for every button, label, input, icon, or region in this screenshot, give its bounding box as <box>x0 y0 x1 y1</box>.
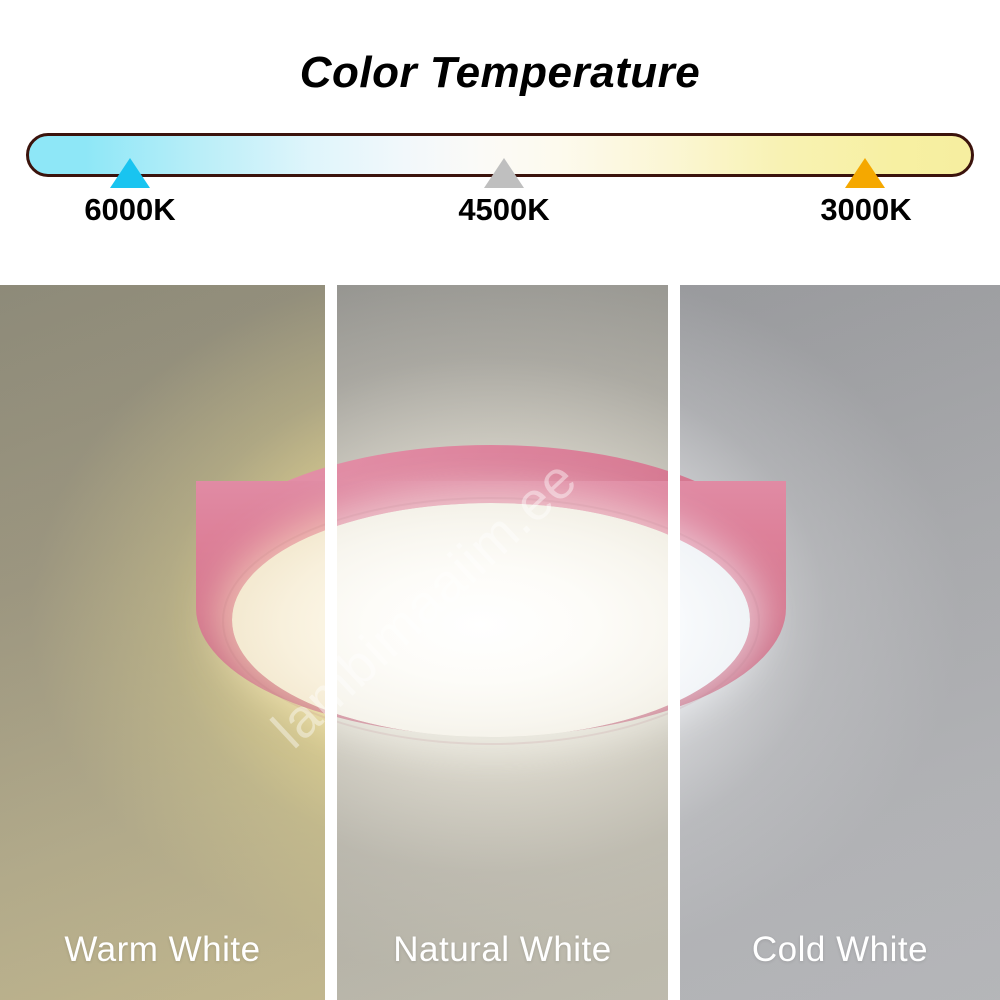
scene-natural: lambimaaiim.ee <box>337 285 668 1000</box>
panel-warm-white[interactable]: lambimaaiim.ee Warm White <box>0 285 325 1000</box>
panel-caption-cold-white: Cold White <box>680 930 1000 970</box>
scene-warm: lambimaaiim.ee <box>0 285 325 1000</box>
ceiling-lamp-warm <box>196 445 325 775</box>
panel-caption-natural-white: Natural White <box>337 930 668 970</box>
marker-4500k-icon[interactable] <box>484 158 524 188</box>
product-photo-strip: lambimaaiim.ee Warm White lambimaaiim.ee… <box>0 285 1000 1000</box>
lamp-body <box>196 445 325 745</box>
marker-6000k-icon[interactable] <box>110 158 150 188</box>
kelvin-label-3000k: 3000K <box>766 192 966 228</box>
kelvin-label-4500k: 4500K <box>404 192 604 228</box>
ceiling-lamp-natural <box>337 445 668 775</box>
panel-caption-warm-white: Warm White <box>0 930 325 970</box>
panel-natural-white[interactable]: lambimaaiim.ee Natural White <box>337 285 668 1000</box>
lamp-body <box>680 445 786 745</box>
lamp-body <box>337 445 668 745</box>
kelvin-label-6000k: 6000K <box>30 192 230 228</box>
marker-3000k-icon[interactable] <box>845 158 885 188</box>
lamp-diffuser <box>337 503 668 737</box>
page-title: Color Temperature <box>0 48 1000 98</box>
panel-cold-white[interactable]: lambimaaiim.ee Cold White <box>680 285 1000 1000</box>
ceiling-lamp-cold <box>680 445 786 775</box>
scene-cold: lambimaaiim.ee <box>680 285 1000 1000</box>
header-section: Color Temperature 6000K 4500K 3000K <box>0 0 1000 285</box>
